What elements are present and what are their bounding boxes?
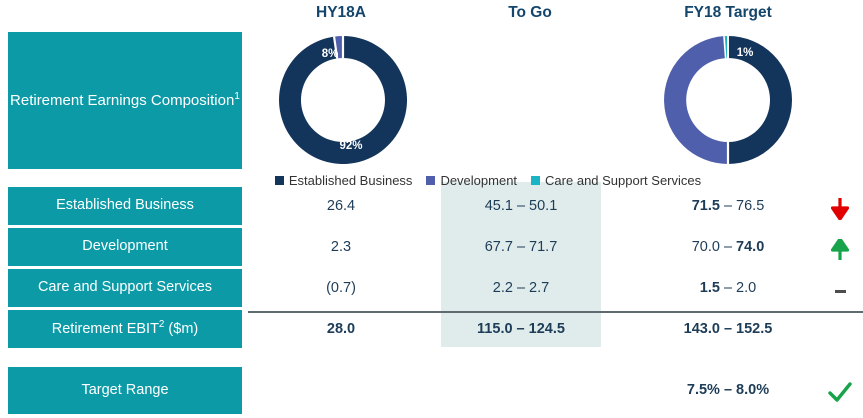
sidebar-label-established-business: Established Business bbox=[56, 195, 194, 216]
legend-item-established-business: Established Business bbox=[275, 173, 413, 188]
slide-canvas: HY18A To Go FY18 Target Retirement Earni… bbox=[0, 0, 863, 418]
legend-item-care-and-support-services: Care and Support Services bbox=[531, 173, 701, 188]
dash-icon bbox=[835, 290, 846, 293]
cell-target-range-fy18: 7.5% – 8.0% bbox=[638, 382, 818, 398]
indicator-care bbox=[820, 280, 860, 293]
cell-development-togo: 67.7 – 71.7 bbox=[441, 239, 601, 255]
legend-label-care-and-support-services: Care and Support Services bbox=[545, 173, 701, 188]
donut-label-50: 50% bbox=[745, 96, 768, 108]
cell-development-hy18a: 2.3 bbox=[266, 239, 416, 255]
sidebar-label-care-and-support-services: Care and Support Services bbox=[38, 277, 212, 298]
cell-established-fy18-plain: – 76.5 bbox=[720, 198, 764, 214]
cell-established-hy18a: 26.4 bbox=[266, 198, 416, 214]
sidebar-block-care-and-support-services: Care and Support Services bbox=[8, 269, 242, 307]
cell-development-fy18-plain: 70.0 – bbox=[692, 239, 736, 255]
check-icon bbox=[828, 382, 852, 404]
down-arrow-icon bbox=[831, 198, 849, 220]
sidebar-label-retirement-ebit: Retirement EBIT bbox=[52, 321, 159, 337]
legend-label-development: Development bbox=[440, 173, 517, 188]
column-header-fy18-target: FY18 Target bbox=[638, 4, 818, 22]
column-header-togo: To Go bbox=[455, 4, 605, 22]
donut-label-8: 8% bbox=[322, 48, 339, 60]
indicator-development bbox=[820, 239, 860, 261]
sidebar-label-target-range: Target Range bbox=[81, 380, 168, 401]
legend-swatch-icon-established-business bbox=[275, 176, 284, 185]
legend-label-established-business: Established Business bbox=[289, 173, 413, 188]
sidebar-superscript-composition: 1 bbox=[234, 91, 240, 102]
cell-care-fy18-bold: 1.5 bbox=[700, 280, 720, 296]
up-arrow-icon bbox=[831, 239, 849, 261]
donut-label-1: 1% bbox=[737, 47, 754, 59]
cell-ebit-fy18: 143.0 – 152.5 bbox=[638, 321, 818, 337]
donut-label-49: 49% bbox=[687, 96, 710, 108]
cell-care-togo: 2.2 – 2.7 bbox=[441, 280, 601, 296]
donut-label-92: 92% bbox=[339, 140, 362, 152]
legend-swatch-icon-care-and-support-services bbox=[531, 176, 540, 185]
legend-swatch-icon-development bbox=[426, 176, 435, 185]
table-divider bbox=[248, 311, 863, 313]
sidebar-suffix-retirement-ebit: ($m) bbox=[164, 321, 198, 337]
cell-established-fy18: 71.5 – 76.5 bbox=[638, 198, 818, 214]
chart-legend: Established Business Development Care an… bbox=[268, 170, 708, 190]
sidebar-label-development: Development bbox=[82, 236, 167, 257]
sidebar-block-target-range: Target Range bbox=[8, 367, 242, 414]
sidebar-block-established-business: Established Business bbox=[8, 187, 242, 225]
cell-care-fy18-plain: – 2.0 bbox=[720, 280, 756, 296]
donut-chart-fy18-target: 50% 49% 1% bbox=[658, 30, 798, 170]
indicator-established bbox=[820, 198, 860, 220]
cell-established-togo: 45.1 – 50.1 bbox=[441, 198, 601, 214]
column-header-hy18a: HY18A bbox=[266, 4, 416, 22]
sidebar-block-composition: Retirement Earnings Composition1 bbox=[8, 32, 242, 169]
cell-development-fy18-bold: 74.0 bbox=[736, 239, 764, 255]
sidebar-block-development: Development bbox=[8, 228, 242, 266]
cell-development-fy18: 70.0 – 74.0 bbox=[638, 239, 818, 255]
cell-ebit-togo: 115.0 – 124.5 bbox=[441, 321, 601, 337]
cell-care-fy18: 1.5 – 2.0 bbox=[638, 280, 818, 296]
indicator-target-range bbox=[820, 382, 860, 404]
cell-care-hy18a: (0.7) bbox=[266, 280, 416, 296]
cell-ebit-hy18a: 28.0 bbox=[266, 321, 416, 337]
donut-chart-hy18a: 92% 8% bbox=[273, 30, 413, 170]
sidebar-label-composition: Retirement Earnings Composition bbox=[10, 92, 234, 109]
cell-established-fy18-bold: 71.5 bbox=[692, 198, 720, 214]
sidebar-block-retirement-ebit: Retirement EBIT2 ($m) bbox=[8, 310, 242, 348]
legend-item-development: Development bbox=[426, 173, 517, 188]
